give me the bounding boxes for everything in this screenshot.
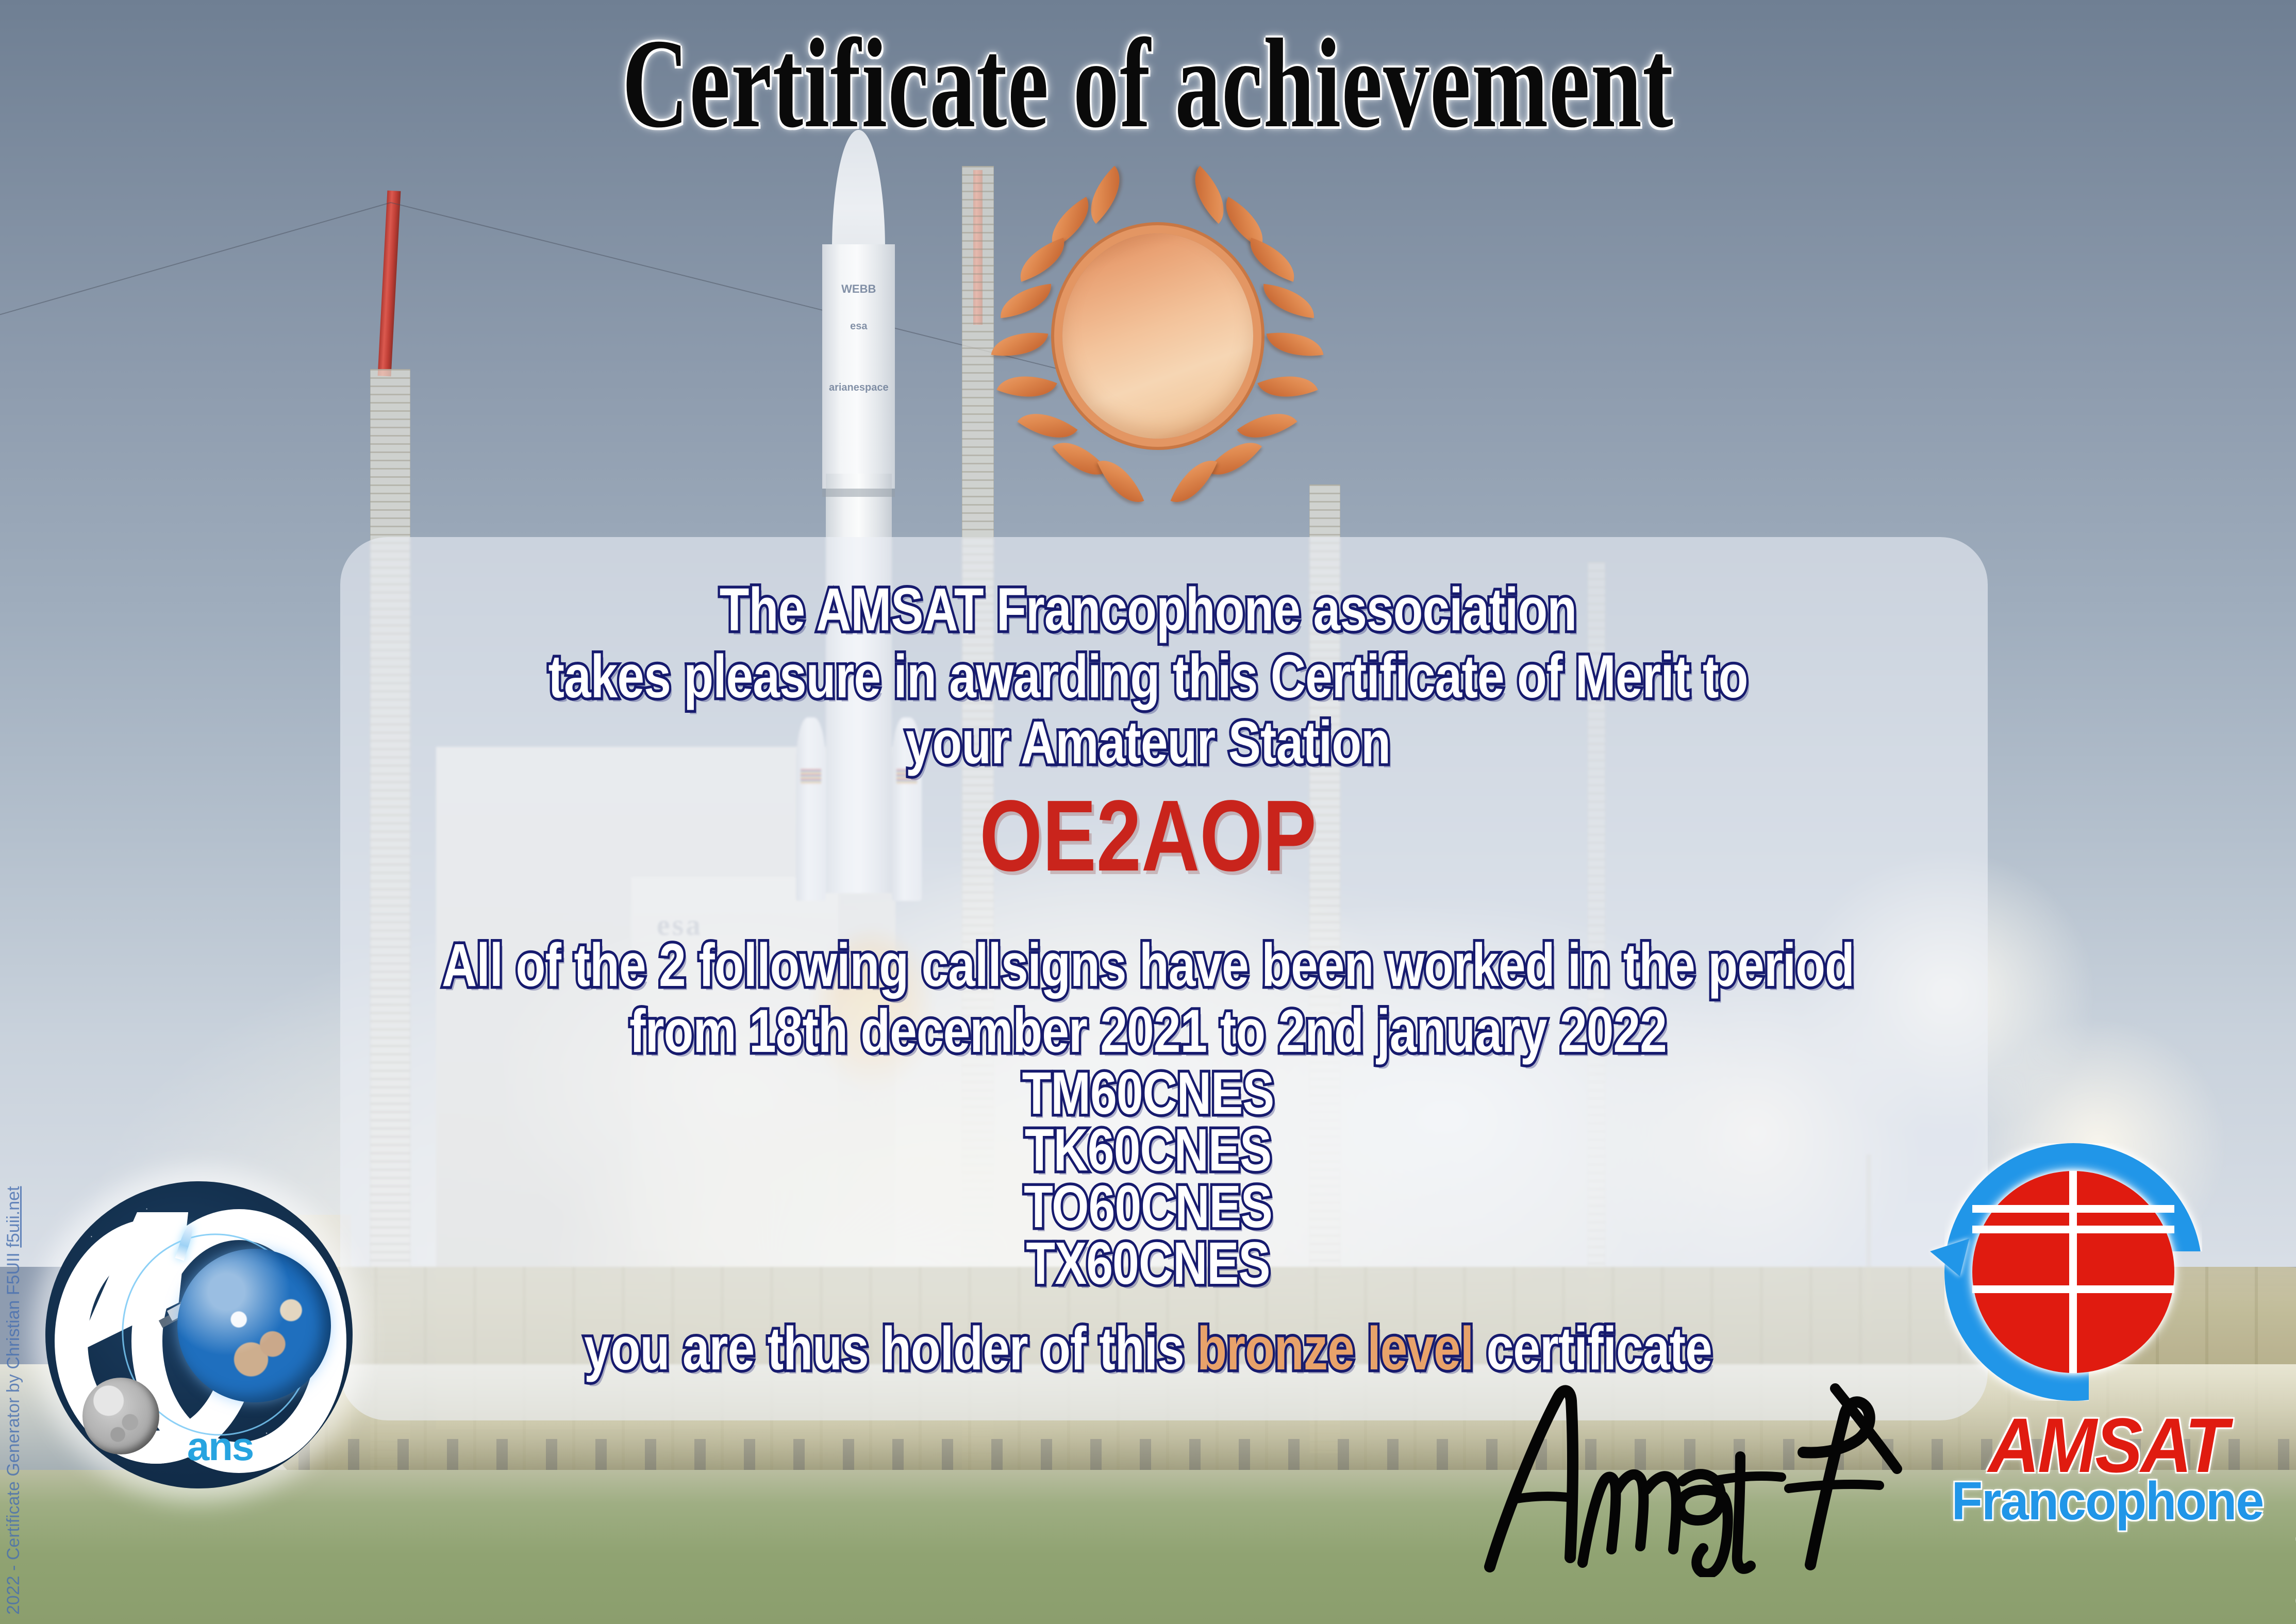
laurel-leaf [1267,326,1324,362]
cnes-60-ans-logo: ans [45,1181,353,1488]
rocket-band [822,489,895,497]
generator-credit-link[interactable]: f5uii.net [4,1186,23,1248]
award-line-2: takes pleasure in awarding this Certific… [229,645,2066,708]
award-line-3: your Amateur Station [229,711,2066,774]
recipient-callsign: OE2AOP [229,785,2066,886]
generator-credit-text: 2022 - Certificate Generator by Christia… [4,1248,23,1615]
laurel-leaf [991,326,1049,362]
laurel-leaf [997,284,1054,319]
laurel-leaf [1171,451,1218,511]
worked-callsign: TM60CNES [229,1063,2066,1124]
worked-callsign: TX60CNES [229,1233,2066,1294]
laurel-leaf [1260,284,1317,319]
level-line-pre: you are thus holder of this [584,1315,1197,1383]
amsat-sub-wordmark: Francophone [1951,1471,2264,1532]
rocket-fairing [822,244,895,489]
medal-disc [1062,233,1253,439]
signature [1428,1361,1933,1577]
award-line-1: The AMSAT Francophone association [229,578,2066,641]
worked-line-1: All of the 2 following callsigns have be… [229,934,2066,997]
laurel-leaf [1012,238,1072,281]
laurel-leaf [1097,451,1144,511]
page-title: Certificate of achievement [322,20,1975,147]
worked-callsign: TO60CNES [229,1176,2066,1237]
generator-credit: 2022 - Certificate Generator by Christia… [4,1186,24,1615]
earth-globe-icon [177,1249,331,1402]
moon-icon [82,1378,159,1454]
certificate-page: esa WEBB esa arianespace [0,0,2296,1624]
bronze-laurel-medal-icon [977,170,1338,510]
rocket-operator-label: arianespace [818,382,900,394]
rocket-payload-label: WEBB [818,282,900,296]
laurel-leaf [1242,238,1302,281]
amsat-francophone-logo: AMSAT Francophone [1942,1143,2272,1535]
laurel-leaf [1257,363,1318,410]
rocket-agency-label: esa [818,321,900,332]
signature-icon [1428,1361,1933,1577]
globe-meridian-line [2069,1171,2077,1373]
worked-line-2: from 18th december 2021 to 2nd january 2… [229,1000,2066,1063]
laurel-leaf [996,363,1057,410]
worked-callsign: TK60CNES [229,1119,2066,1180]
logo-ans-label: ans [187,1423,253,1470]
photo-credit: ©2021 ESA-CNES-ARIANESPACE / Optique Vid… [2292,1516,2296,1624]
